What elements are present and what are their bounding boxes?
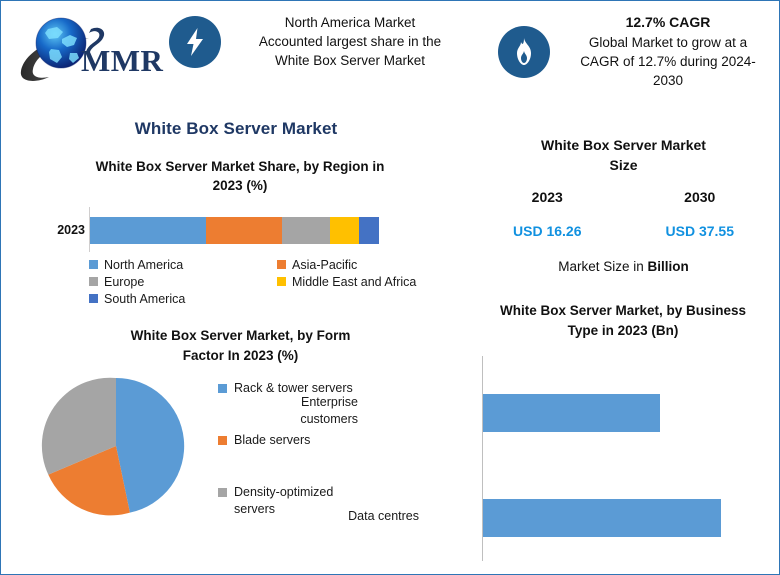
market-size-col-2023: 2023 USD 16.26: [471, 189, 624, 239]
region-title-line-1: White Box Server Market Share, by Region…: [96, 159, 385, 174]
hbar-title-line-2: Type in 2023 (Bn): [568, 323, 679, 338]
legend-label-south-america: South America: [104, 292, 185, 306]
hbar-chart-title: White Box Server Market, by Business Typ…: [473, 301, 773, 340]
hbar-fill-enterprise-customers: [483, 394, 660, 432]
lightning-bolt-icon: [182, 27, 208, 57]
legend-swatch-europe: [89, 277, 98, 286]
pie-slice-rack-and-tower-servers: [116, 378, 184, 513]
header-stat-cagr: 12.7% CAGR Global Market to grow at a CA…: [498, 13, 776, 90]
cagr-line-4: 2030: [653, 73, 683, 88]
market-size-value-2030: USD 37.55: [624, 223, 777, 239]
cagr-headline: 12.7% CAGR: [560, 13, 776, 33]
market-size-col-2030: 2030 USD 37.55: [624, 189, 777, 239]
pie-chart-title: White Box Server Market, by Form Factor …: [41, 326, 441, 365]
market-size-year-2023: 2023: [471, 189, 624, 205]
na-line-3: White Box Server Market: [275, 53, 425, 68]
region-segment-south-america: [359, 217, 379, 244]
legend-swatch-north-america: [89, 260, 98, 269]
hbar-label-data-centres-line-1: Data centres: [348, 509, 419, 523]
region-title-line-2: 2023 (%): [213, 178, 268, 193]
na-line-2: Accounted largest share in the: [259, 34, 441, 49]
header: MMR North America Market Accounted large…: [1, 1, 778, 104]
hbar-fill-data-centres: [483, 499, 721, 537]
market-size-footer-prefix: Market Size in: [558, 259, 647, 274]
hbar-label-enterprise-line-2: customers: [300, 412, 358, 426]
legend-label-north-america: North America: [104, 258, 183, 272]
pie-legend-swatch-density-optimized-servers: [218, 488, 227, 497]
pie-legend-label-density-line-2: servers: [234, 502, 275, 516]
legend-swatch-south-america: [89, 294, 98, 303]
market-size-footer-unit: Billion: [648, 259, 689, 274]
legend-label-europe: Europe: [104, 275, 144, 289]
market-size-value-2023: USD 16.26: [471, 223, 624, 239]
form-factor-pie-chart: White Box Server Market, by Form Factor …: [13, 326, 468, 571]
market-size-years: 2023 USD 16.26 2030 USD 37.55: [471, 189, 776, 239]
logo-text: MMR: [81, 43, 164, 78]
legend-label-asia-pacific: Asia-Pacific: [292, 258, 357, 272]
hbar-item-enterprise-customers: Enterprise customers: [483, 394, 660, 432]
lightning-bolt-icon-circle: [169, 16, 221, 68]
region-segment-north-america: [90, 217, 206, 244]
market-size-title: White Box Server Market Size: [471, 136, 776, 175]
hbar-label-data-centres: Data centres: [299, 508, 419, 525]
flame-icon: [512, 37, 536, 67]
pie-legend-swatch-rack-and-tower-servers: [218, 384, 227, 393]
market-size-title-line-2: Size: [609, 157, 637, 173]
legend-item-asia-pacific: Asia-Pacific: [277, 256, 465, 273]
pie-legend-swatch-blade-servers: [218, 436, 227, 445]
legend-swatch-middle-east-africa: [277, 277, 286, 286]
legend-item-middle-east-africa: Middle East and Africa: [277, 273, 465, 290]
region-category-label: 2023: [37, 223, 85, 237]
na-line-1: North America Market: [285, 15, 416, 30]
pie-legend-label-density-line-1: Density-optimized: [234, 485, 333, 499]
region-legend: North America Asia-Pacific Europe Middle…: [89, 256, 465, 307]
pie-title-line-2: Factor In 2023 (%): [183, 348, 299, 363]
header-stat-north-america: North America Market Accounted largest s…: [169, 13, 469, 70]
cagr-line-2: Global Market to grow at a: [589, 35, 747, 50]
mmr-logo-svg: MMR: [15, 9, 170, 87]
flame-icon-circle: [498, 26, 550, 78]
hbar-label-enterprise-customers: Enterprise customers: [238, 394, 358, 428]
pie-title-line-1: White Box Server Market, by Form: [131, 328, 351, 343]
region-stacked-bar: [90, 217, 379, 244]
pie-legend-label-blade-servers: Blade servers: [234, 432, 310, 449]
header-stat-north-america-text: North America Market Accounted largest s…: [231, 13, 469, 70]
hbar-plot-area: Enterprise customers Data centres: [469, 356, 777, 561]
market-size-footer: Market Size in Billion: [471, 259, 776, 274]
mmr-logo: MMR: [15, 9, 170, 87]
region-share-chart: White Box Server Market Share, by Region…: [15, 157, 465, 317]
market-size-panel: White Box Server Market Size 2023 USD 16…: [471, 136, 776, 291]
region-segment-asia-pacific: [206, 217, 283, 244]
region-chart-title: White Box Server Market Share, by Region…: [25, 157, 455, 195]
infographic-root: MMR North America Market Accounted large…: [0, 0, 780, 575]
region-bar-row: 2023: [15, 207, 465, 252]
page-title: White Box Server Market: [1, 119, 471, 139]
pie-svg: [31, 374, 201, 524]
business-type-bar-chart: White Box Server Market, by Business Typ…: [469, 301, 777, 573]
header-stat-cagr-text: 12.7% CAGR Global Market to grow at a CA…: [560, 13, 776, 90]
hbar-title-line-1: White Box Server Market, by Business: [500, 303, 746, 318]
hbar-item-data-centres: Data centres: [483, 499, 721, 537]
legend-item-south-america: South America: [89, 290, 277, 307]
legend-label-middle-east-africa: Middle East and Africa: [292, 275, 416, 289]
market-size-year-2030: 2030: [624, 189, 777, 205]
hbar-label-enterprise-line-1: Enterprise: [301, 395, 358, 409]
pie-legend-item-blade-servers: Blade servers: [218, 432, 448, 449]
region-segment-middle-east-africa: [330, 217, 359, 244]
legend-item-north-america: North America: [89, 256, 277, 273]
market-size-title-line-1: White Box Server Market: [541, 137, 706, 153]
region-segment-europe: [282, 217, 330, 244]
cagr-line-3: CAGR of 12.7% during 2024-: [580, 54, 756, 69]
legend-swatch-asia-pacific: [277, 260, 286, 269]
legend-item-europe: Europe: [89, 273, 277, 290]
